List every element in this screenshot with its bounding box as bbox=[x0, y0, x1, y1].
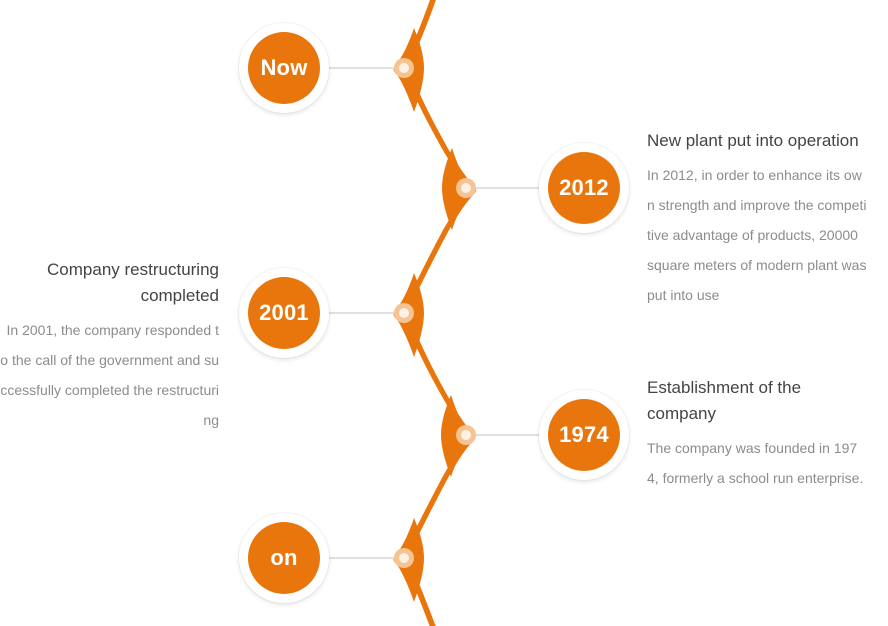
milestone-2012[interactable]: 2012 bbox=[539, 143, 629, 233]
node-dot-1974[interactable] bbox=[456, 425, 476, 445]
milestone-disc: 2012 bbox=[548, 152, 620, 224]
node-dot-2012[interactable] bbox=[456, 178, 476, 198]
milestone-2001[interactable]: 2001 bbox=[239, 268, 329, 358]
milestone-now[interactable]: Now bbox=[239, 23, 329, 113]
entry-title: New plant put into operation bbox=[647, 128, 867, 154]
milestone-disc: Now bbox=[248, 32, 320, 104]
connector-line-now bbox=[328, 67, 404, 69]
milestone-label-on: on bbox=[270, 547, 297, 569]
milestone-on[interactable]: on bbox=[239, 513, 329, 603]
entry-title: Company restructuring completed bbox=[0, 257, 219, 309]
connector-line-2001 bbox=[328, 312, 404, 314]
node-dot-on[interactable] bbox=[394, 548, 414, 568]
timeline-infographic: Now 2012 2001 1974 on New plant put into… bbox=[0, 0, 888, 626]
entry-description: In 2012, in order to enhance its own str… bbox=[647, 160, 867, 310]
milestone-label-2001: 2001 bbox=[259, 302, 309, 324]
entry-description: In 2001, the company responded to the ca… bbox=[0, 315, 219, 435]
entry-1974: Establishment of the company The company… bbox=[647, 375, 867, 493]
connector-line-2012 bbox=[466, 187, 540, 189]
milestone-disc: 2001 bbox=[248, 277, 320, 349]
node-dot-now[interactable] bbox=[394, 58, 414, 78]
milestone-label-2012: 2012 bbox=[559, 177, 609, 199]
entry-2001: Company restructuring completed In 2001,… bbox=[0, 257, 219, 435]
milestone-label-now: Now bbox=[260, 57, 307, 79]
connector-line-on bbox=[328, 557, 404, 559]
entry-2012: New plant put into operation In 2012, in… bbox=[647, 128, 867, 310]
milestone-1974[interactable]: 1974 bbox=[539, 390, 629, 480]
node-dot-2001[interactable] bbox=[394, 303, 414, 323]
connector-line-1974 bbox=[466, 434, 540, 436]
milestone-disc: on bbox=[248, 522, 320, 594]
entry-title: Establishment of the company bbox=[647, 375, 867, 427]
milestone-label-1974: 1974 bbox=[559, 424, 609, 446]
milestone-disc: 1974 bbox=[548, 399, 620, 471]
entry-description: The company was founded in 1974, formerl… bbox=[647, 433, 867, 493]
